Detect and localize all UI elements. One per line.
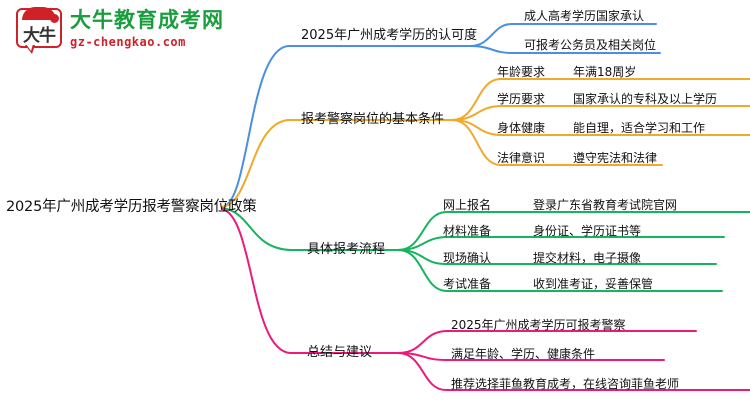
leaf-node-3-2-label[interactable]: 材料准备 — [443, 225, 491, 237]
mindmap-root-node[interactable]: 2025年广州成考学历报考警察岗位政策 — [6, 200, 257, 215]
logo-mark-icon: 大牛 — [16, 8, 64, 54]
leaf-node-3-1-label[interactable]: 网上报名 — [443, 199, 491, 211]
leaf-node-3-2-detail[interactable]: 身份证、学历证书等 — [533, 225, 641, 237]
logo-mark-text: 大牛 — [16, 19, 62, 47]
mindmap-canvas: 大牛 大牛教育成考网 gz-chengkao.com 2025年广州成考学历报考… — [0, 0, 750, 410]
trunk-orange — [222, 120, 452, 207]
branch-node-3[interactable]: 具体报考流程 — [307, 243, 385, 256]
branch-node-4[interactable]: 总结与建议 — [307, 346, 372, 359]
logo-title: 大牛教育成考网 — [70, 8, 224, 32]
branch-node-1[interactable]: 2025年广州成考学历的认可度 — [301, 29, 477, 42]
fan-orange-2 — [452, 106, 750, 120]
leaf-node-2-2-detail[interactable]: 国家承认的专科及以上学历 — [573, 93, 717, 105]
leaf-node-3-3-detail[interactable]: 提交材料，电子摄像 — [533, 252, 641, 264]
leaf-node-2-2-label[interactable]: 学历要求 — [497, 93, 545, 105]
site-logo[interactable]: 大牛 大牛教育成考网 gz-chengkao.com — [16, 6, 196, 58]
leaf-node-3-4-detail[interactable]: 收到准考证，妥善保管 — [533, 278, 653, 290]
leaf-node-2-4-detail[interactable]: 遵守宪法和法律 — [573, 152, 657, 164]
trunk-pink — [222, 209, 398, 353]
leaf-node-3-1-detail[interactable]: 登录广东省教育考试院官网 — [533, 199, 677, 211]
leaf-node-3-3-label[interactable]: 现场确认 — [443, 252, 491, 264]
leaf-node-1-1[interactable]: 成人高考学历国家承认 — [524, 10, 644, 22]
leaf-node-4-3[interactable]: 推荐选择菲鱼教育成考，在线咨询菲鱼老师 — [451, 378, 679, 390]
logo-subtitle: gz-chengkao.com — [70, 34, 224, 50]
leaf-node-3-4-label[interactable]: 考试准备 — [443, 278, 491, 290]
branch-node-2[interactable]: 报考警察岗位的基本条件 — [301, 113, 444, 126]
fan-green-2 — [398, 237, 724, 250]
leaf-node-1-2[interactable]: 可报考公务员及相关岗位 — [524, 39, 656, 51]
leaf-node-2-1-detail[interactable]: 年满18周岁 — [573, 66, 636, 78]
leaf-node-4-2[interactable]: 满足年龄、学历、健康条件 — [451, 348, 595, 360]
leaf-node-2-1-label[interactable]: 年龄要求 — [497, 66, 545, 78]
leaf-node-2-3-detail[interactable]: 能自理，适合学习和工作 — [573, 122, 705, 134]
leaf-node-2-4-label[interactable]: 法律意识 — [497, 152, 545, 164]
leaf-node-2-3-label[interactable]: 身体健康 — [497, 122, 545, 134]
leaf-node-4-1[interactable]: 2025年广州成考学历可报考警察 — [451, 319, 626, 331]
